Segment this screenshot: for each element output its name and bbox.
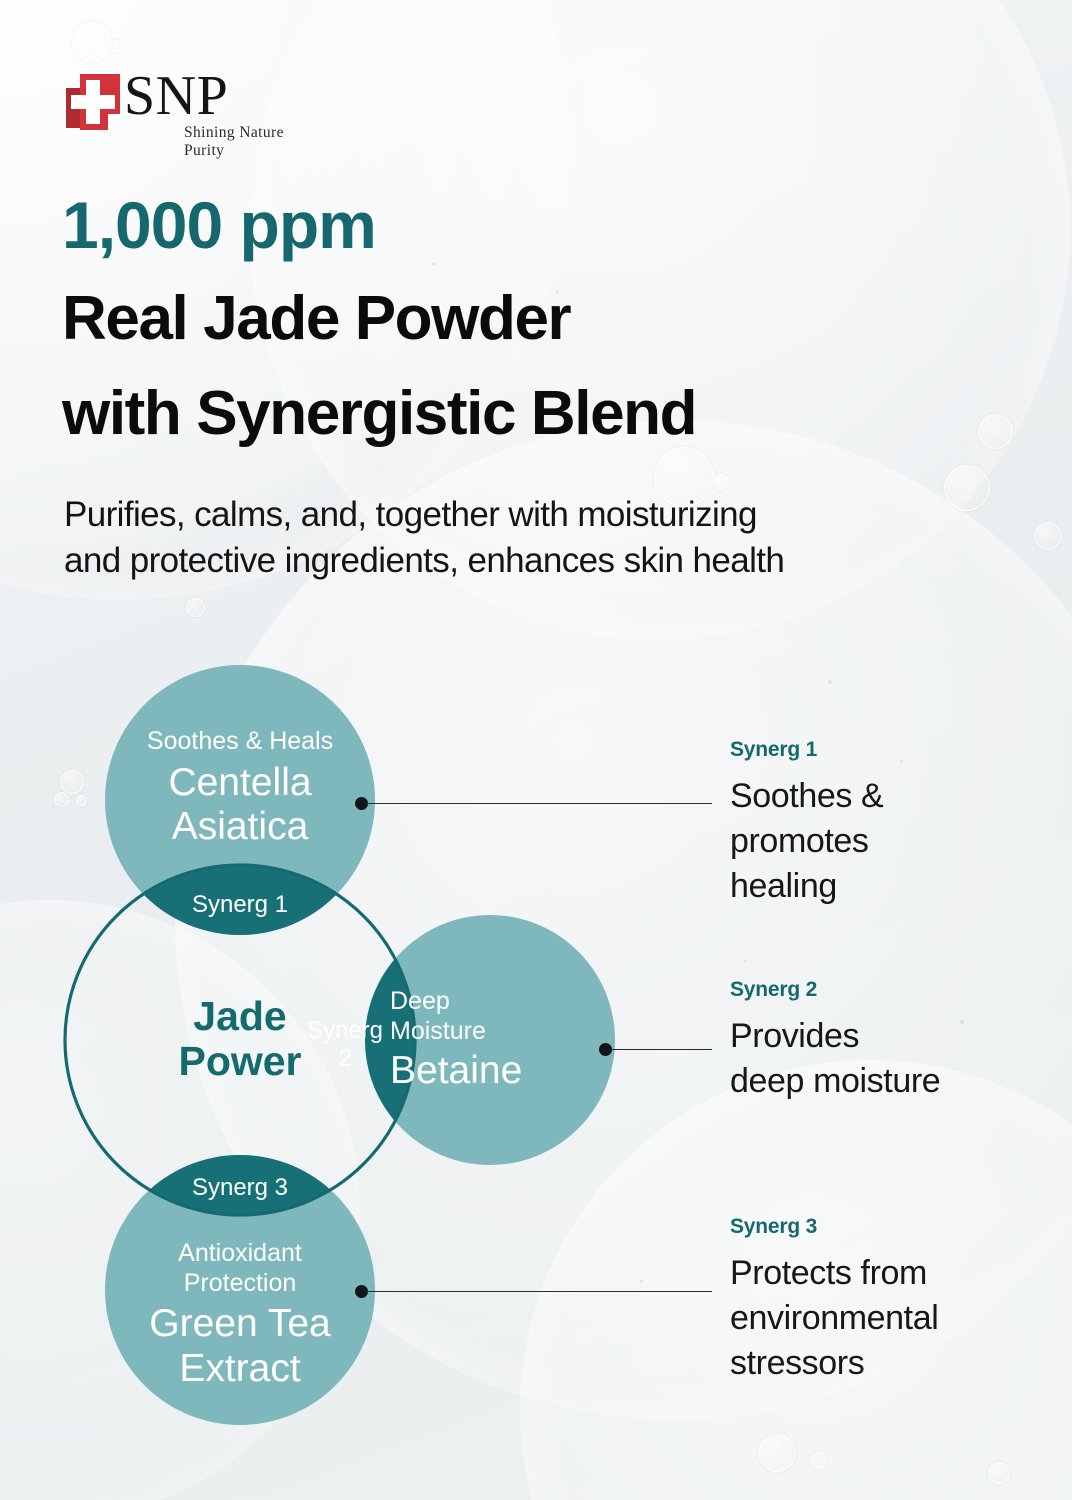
- speck: [744, 960, 747, 963]
- venn-overlap-label-synerg-1: Synerg 1: [120, 892, 360, 918]
- venn-benefit-green-tea-line-1: Antioxidant: [95, 1240, 385, 1267]
- callout-text-3-line-3: stressors: [730, 1341, 938, 1386]
- callout-synerg-3: Synerg 3 Protects from environmental str…: [730, 1215, 938, 1387]
- venn-name-centella-line-2: Asiatica: [95, 806, 385, 848]
- brand-logo: SNP Shining Nature Purity: [64, 72, 294, 152]
- bubble-icon: [988, 1462, 1010, 1484]
- callout-text-1-line-1: Soothes &: [730, 774, 883, 819]
- bubble-icon: [1034, 522, 1062, 550]
- venn-overlap-label-synerg-2-line-1: Synerg: [290, 1018, 400, 1044]
- venn-name-green-tea-line-1: Green Tea: [95, 1303, 385, 1345]
- venn-benefit-green-tea-line-2: Protection: [95, 1270, 385, 1297]
- snp-cross-logo-icon: [64, 74, 122, 132]
- callout-text-3-line-2: environmental: [730, 1296, 938, 1341]
- leader-line-synerg-2: [610, 1049, 712, 1050]
- bubble-icon: [758, 1434, 796, 1472]
- subtitle-line-2: and protective ingredients, enhances ski…: [64, 543, 784, 578]
- bubble-icon: [810, 1452, 827, 1469]
- venn-name-centella-line-1: Centella: [95, 762, 385, 804]
- venn-overlap-label-synerg-3: Synerg 3: [120, 1175, 360, 1201]
- bubble-icon: [978, 414, 1013, 449]
- callout-text-1-line-2: promotes: [730, 819, 883, 864]
- callout-text-2-line-2: deep moisture: [730, 1059, 940, 1104]
- bubble-icon: [72, 22, 112, 62]
- speck: [432, 262, 436, 266]
- venn-name-green-tea-line-2: Extract: [95, 1348, 385, 1390]
- bubble-icon: [713, 474, 729, 490]
- callout-text-2-line-1: Provides: [730, 1014, 940, 1059]
- page-title-line-1: Real Jade Powder: [62, 288, 570, 350]
- venn-overlap-label-synerg-2-line-2: 2: [290, 1046, 400, 1072]
- subtitle-line-1: Purifies, calms, and, together with mois…: [64, 497, 757, 532]
- eyebrow-ppm: 1,000 ppm: [62, 192, 376, 258]
- speck: [900, 760, 903, 763]
- venn-name-betaine: Betaine: [390, 1050, 640, 1092]
- speck: [828, 680, 832, 684]
- callout-text-3-line-1: Protects from: [730, 1251, 938, 1296]
- leader-line-synerg-1: [366, 803, 712, 804]
- brand-wordmark: SNP: [124, 68, 228, 124]
- brand-tagline: Shining Nature Purity: [184, 124, 294, 160]
- page-title-line-2: with Synergistic Blend: [62, 383, 696, 445]
- bubble-icon: [944, 465, 990, 511]
- bubble-icon: [110, 40, 123, 53]
- infographic-page: SNP Shining Nature Purity 1,000 ppm Real…: [0, 0, 1072, 1500]
- speck: [960, 1020, 964, 1024]
- venn-benefit-centella: Soothes & Heals: [95, 728, 385, 755]
- callout-synerg-1: Synerg 1 Soothes & promotes healing: [730, 738, 883, 910]
- bubble-icon: [186, 598, 205, 617]
- leader-line-synerg-3: [366, 1291, 712, 1292]
- venn-benefit-betaine-line-1: Deep: [390, 988, 640, 1015]
- venn-diagram: Soothes & Heals Centella Asiatica Synerg…: [0, 640, 700, 1460]
- callout-synerg-2: Synerg 2 Provides deep moisture: [730, 978, 940, 1104]
- callout-tag-synerg-3: Synerg 3: [730, 1215, 938, 1239]
- callout-tag-synerg-2: Synerg 2: [730, 978, 940, 1002]
- venn-benefit-betaine-line-2: Moisture: [390, 1018, 640, 1045]
- callout-text-1-line-3: healing: [730, 864, 883, 909]
- callout-tag-synerg-1: Synerg 1: [730, 738, 883, 762]
